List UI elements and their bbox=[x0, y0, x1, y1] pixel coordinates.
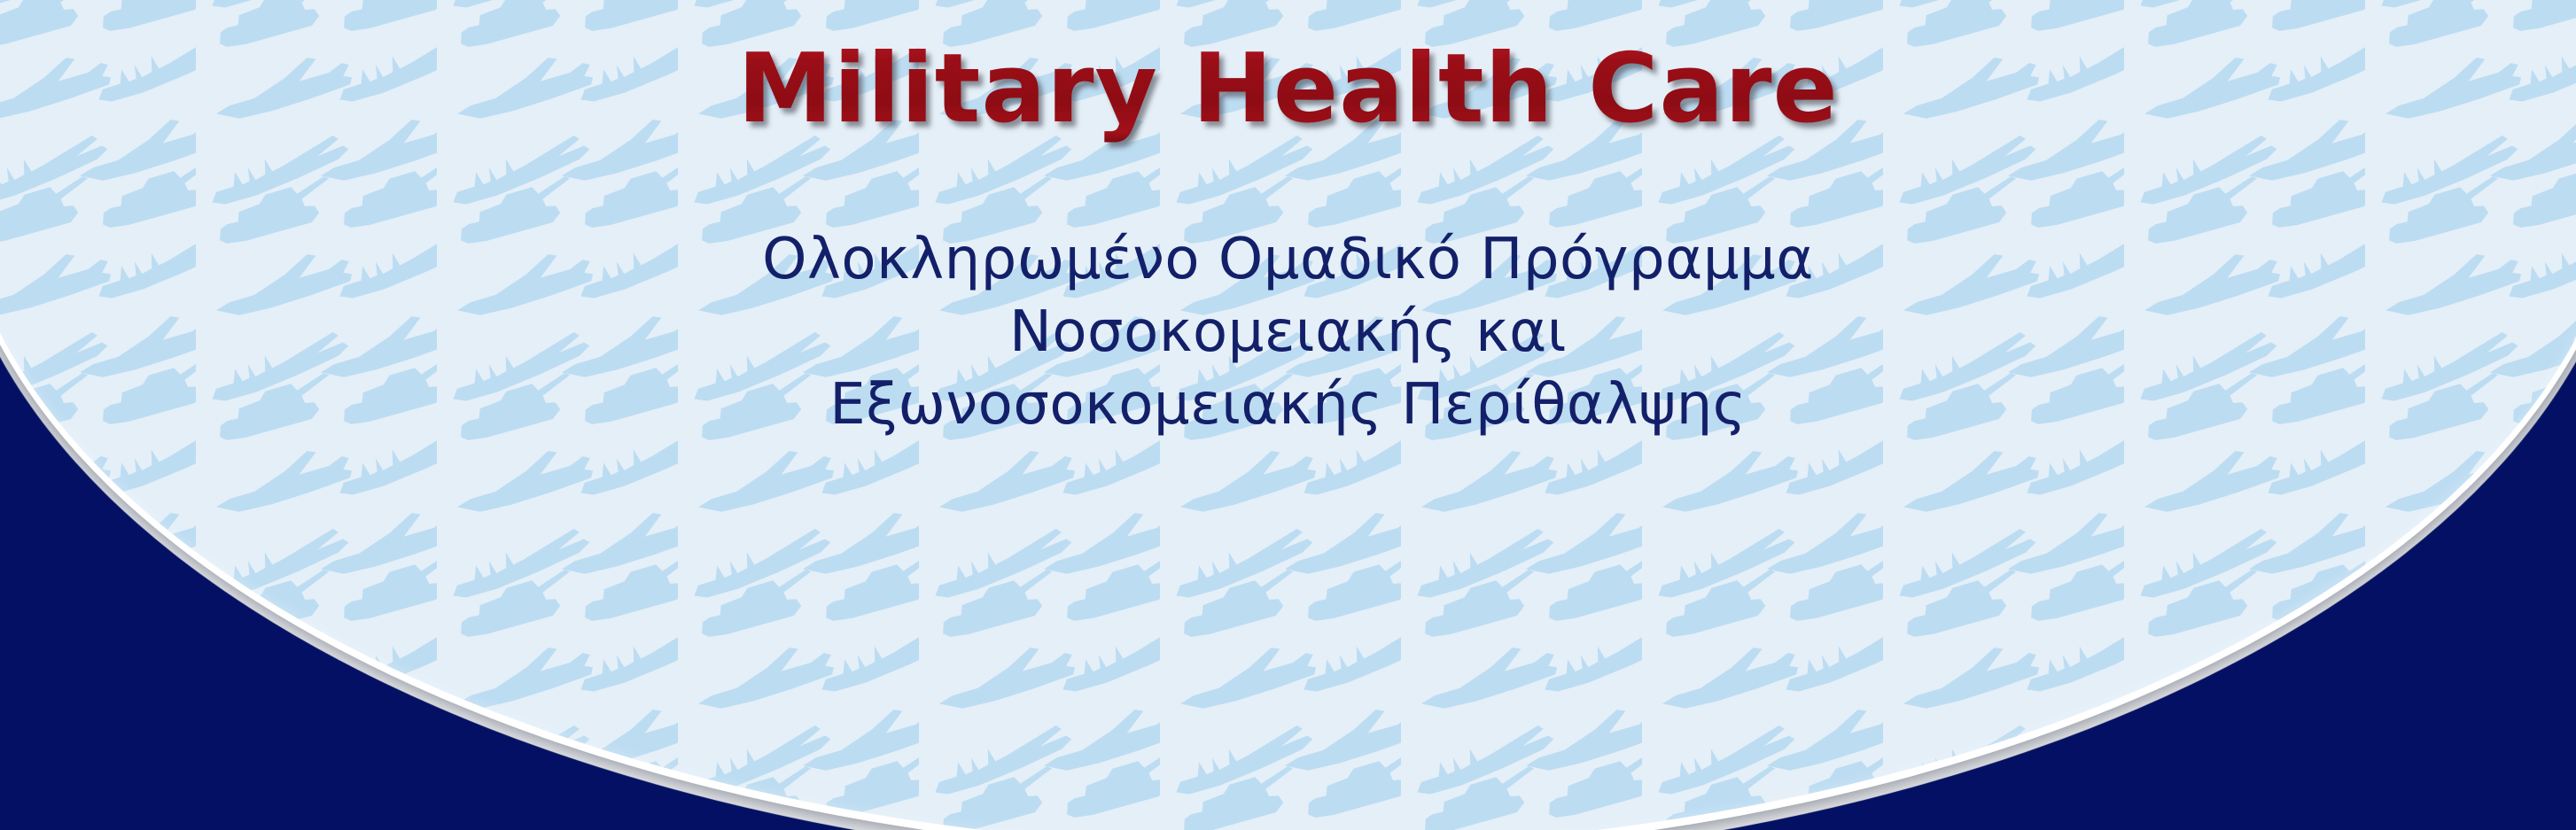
subtitle-block: Ολοκληρωμένο Ομαδικό Πρόγραμμα Νοσοκομει… bbox=[762, 224, 1814, 442]
title-slide: Military Health Care Ολοκληρωμένο Ομαδικ… bbox=[0, 0, 2576, 830]
subtitle-line-1: Ολοκληρωμένο Ομαδικό Πρόγραμμα bbox=[762, 224, 1814, 297]
page-title: Military Health Care bbox=[737, 37, 1839, 143]
subtitle-line-3: Εξωνοσοκομειακής Περίθαλψης bbox=[762, 369, 1814, 442]
slide-content: Military Health Care Ολοκληρωμένο Ομαδικ… bbox=[0, 0, 2576, 830]
subtitle-line-2: Νοσοκομειακής και bbox=[762, 297, 1814, 369]
